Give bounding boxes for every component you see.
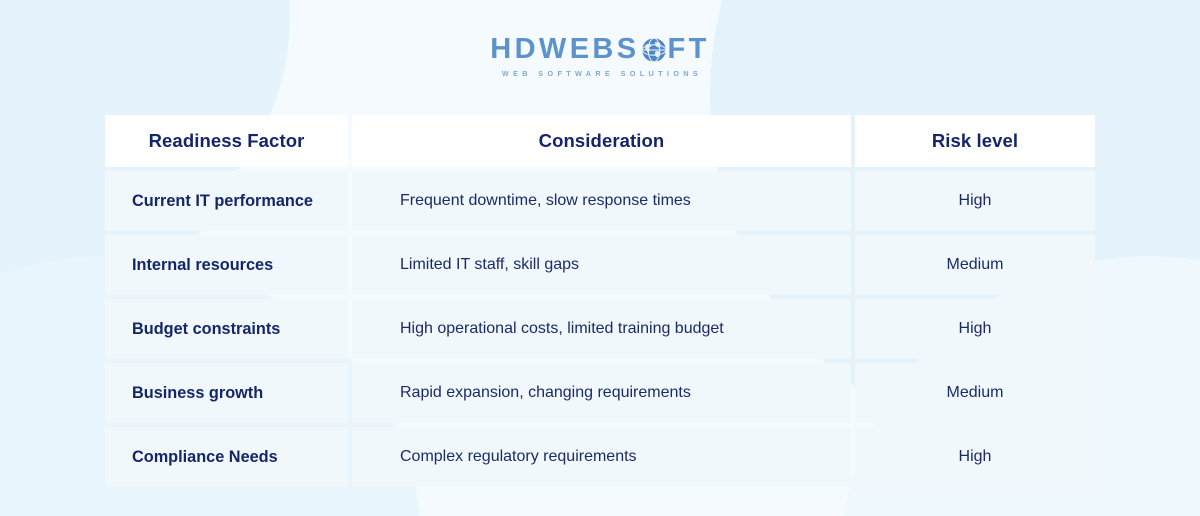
table-row: Business growth Rapid expansion, changin… (105, 363, 1095, 423)
logo-text-after: FT (668, 35, 710, 64)
cell-consideration: Limited IT staff, skill gaps (352, 235, 851, 295)
table-row: Internal resources Limited IT staff, ski… (105, 235, 1095, 295)
column-header-readiness-factor: Readiness Factor (105, 115, 348, 167)
cell-risk-level: High (855, 171, 1095, 231)
column-header-risk-level: Risk level (855, 115, 1095, 167)
table-row: Compliance Needs Complex regulatory requ… (105, 427, 1095, 487)
cell-consideration: Rapid expansion, changing requirements (352, 363, 851, 423)
cell-readiness-factor: Internal resources (105, 235, 348, 295)
cell-risk-level: Medium (855, 363, 1095, 423)
cell-risk-level: High (855, 427, 1095, 487)
table-row: Current IT performance Frequent downtime… (105, 171, 1095, 231)
cell-readiness-factor: Current IT performance (105, 171, 348, 231)
brand-logo: HDWEBS FT WEB SOFTWARE SOLUTIONS (0, 34, 1200, 77)
logo-tagline: WEB SOFTWARE SOLUTIONS (498, 70, 702, 77)
cell-readiness-factor: Compliance Needs (105, 427, 348, 487)
column-header-consideration: Consideration (352, 115, 851, 167)
table-row: Budget constraints High operational cost… (105, 299, 1095, 359)
cell-consideration: Complex regulatory requirements (352, 427, 851, 487)
cell-risk-level: High (855, 299, 1095, 359)
globe-icon (641, 37, 667, 63)
logo-wordmark: HDWEBS FT (490, 34, 710, 64)
cell-consideration: Frequent downtime, slow response times (352, 171, 851, 231)
cell-readiness-factor: Business growth (105, 363, 348, 423)
cell-readiness-factor: Budget constraints (105, 299, 348, 359)
readiness-assessment-table: Readiness Factor Consideration Risk leve… (105, 115, 1095, 487)
table-header-row: Readiness Factor Consideration Risk leve… (105, 115, 1095, 167)
cell-risk-level: Medium (855, 235, 1095, 295)
cell-consideration: High operational costs, limited training… (352, 299, 851, 359)
logo-text-before: HDWEBS (490, 35, 639, 64)
